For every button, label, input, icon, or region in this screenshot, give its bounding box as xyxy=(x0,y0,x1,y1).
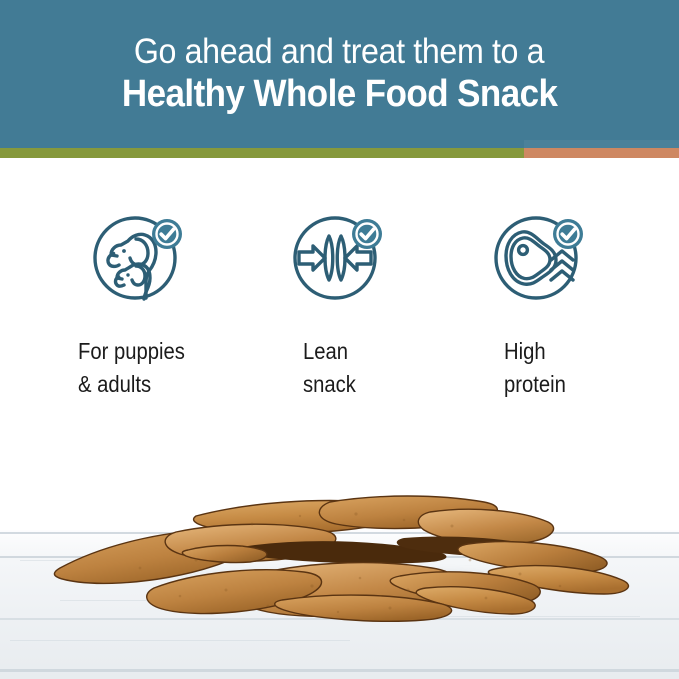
treat-pile xyxy=(0,428,679,679)
feature-label-lean-snack: Lean snack xyxy=(303,335,356,400)
feature-lean-snack: Lean snack xyxy=(278,158,478,428)
product-feature-graphic: Go ahead and treat them to a Healthy Who… xyxy=(0,0,679,679)
stripe-segment-salmon xyxy=(524,148,679,158)
meat-cut-with-chevrons-icon xyxy=(488,208,588,308)
header-banner: Go ahead and treat them to a Healthy Who… xyxy=(0,0,679,148)
slimming-arrows-icon xyxy=(287,208,387,308)
product-photo xyxy=(0,428,679,679)
stripe-teal-cap xyxy=(524,140,679,148)
feature-row: For puppies & adults xyxy=(0,158,679,428)
accent-stripe xyxy=(0,148,679,158)
header-line-2: Healthy Whole Food Snack xyxy=(122,73,557,116)
feature-label-high-protein: High protein xyxy=(504,335,566,400)
feature-for-puppies-and-adults: For puppies & adults xyxy=(78,158,278,428)
header-line-1: Go ahead and treat them to a xyxy=(134,32,544,71)
stripe-segment-green xyxy=(0,148,524,158)
feature-label-for-puppies-and-adults: For puppies & adults xyxy=(78,335,185,400)
two-dogs-icon xyxy=(87,208,187,308)
feature-high-protein: High protein xyxy=(479,158,679,428)
